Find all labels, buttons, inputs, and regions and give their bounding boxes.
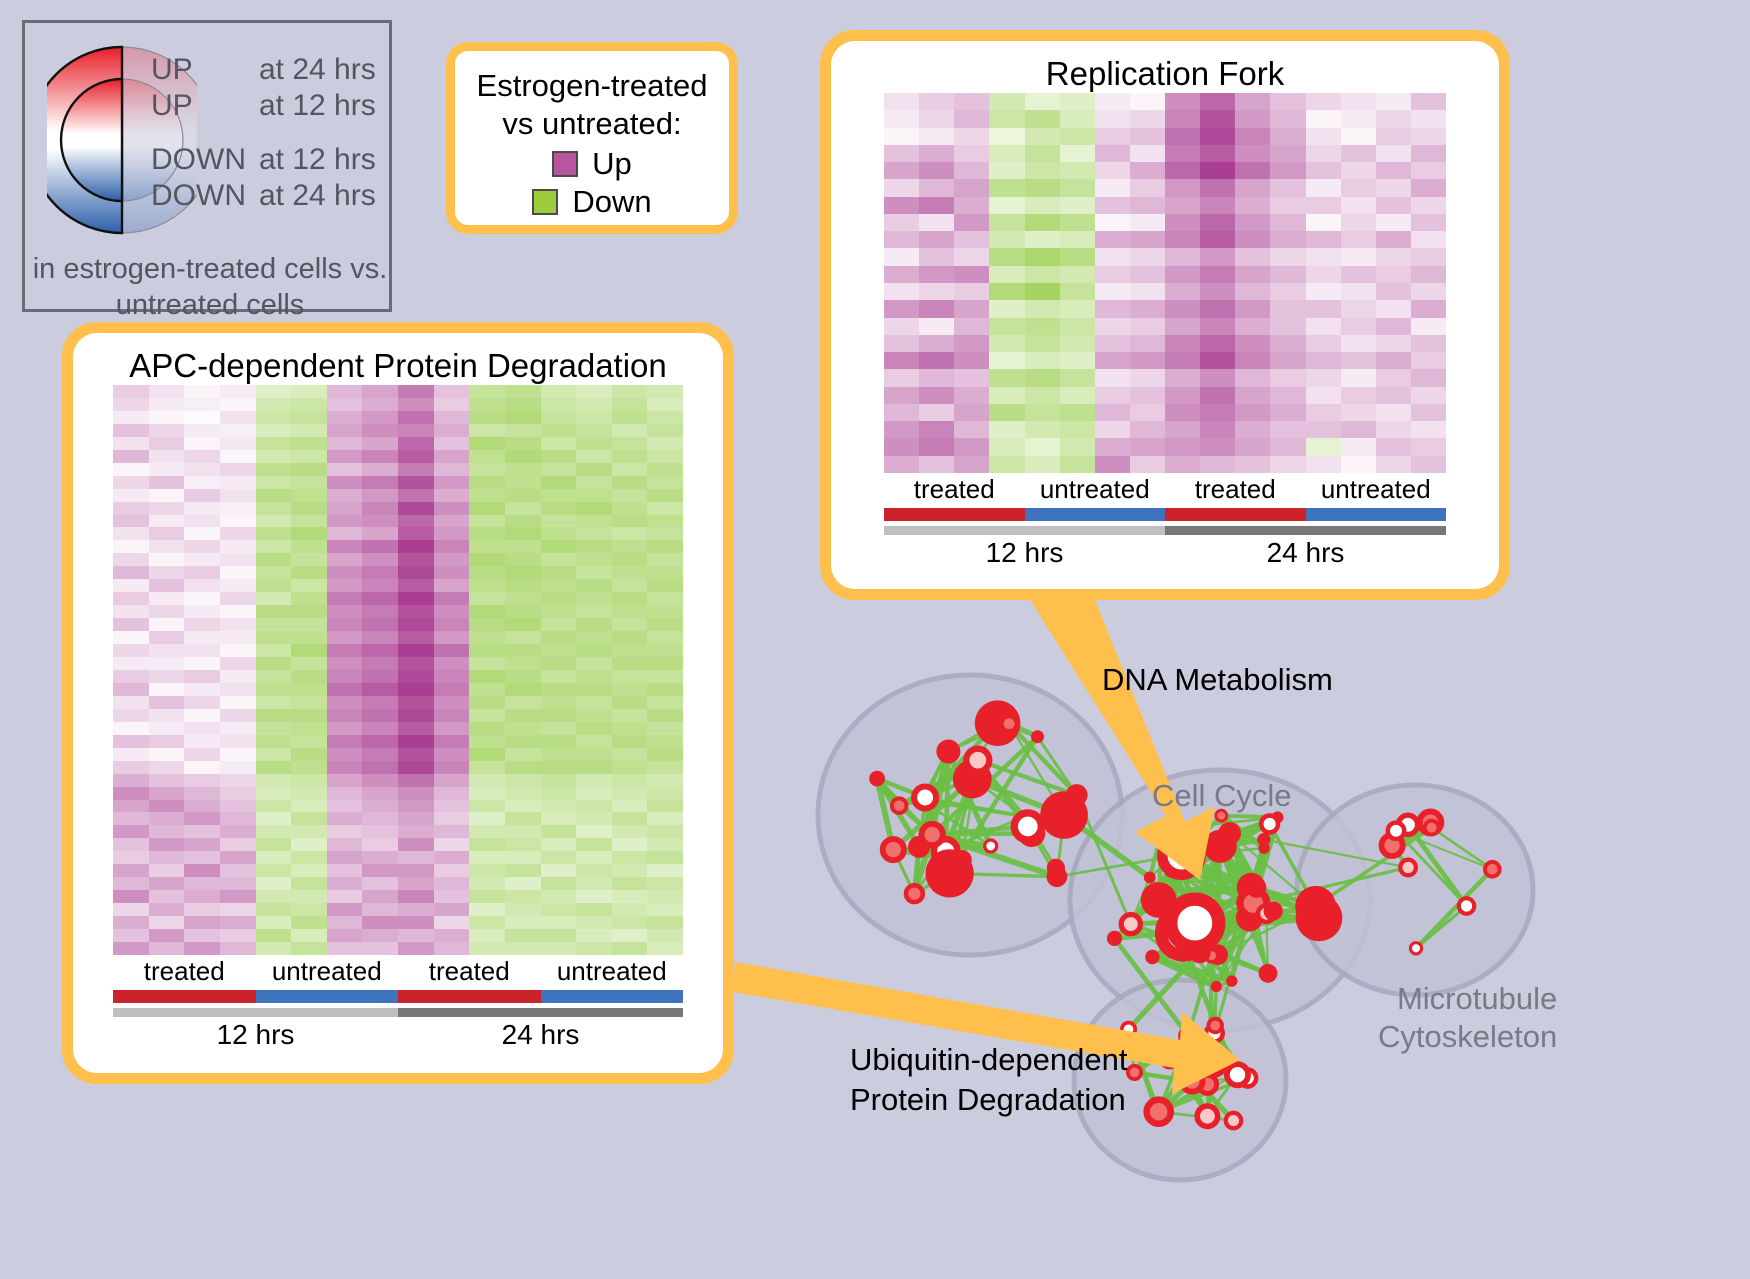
- heatmap-cell: [541, 450, 577, 463]
- heatmap-cell: [220, 579, 256, 592]
- heatmap-cell: [1270, 456, 1305, 473]
- heatmap-cell: [149, 800, 185, 813]
- heatmap-cell: [919, 335, 954, 352]
- heatmap-cell: [505, 722, 541, 735]
- heatmap-cell: [291, 670, 327, 683]
- heatmap-cell: [362, 566, 398, 579]
- heatmap-cell: [149, 463, 185, 476]
- heatmap-cell: [256, 644, 292, 657]
- heatmap-cell: [469, 515, 505, 528]
- heatmap-cell: [1341, 248, 1376, 265]
- heatmap-cell: [434, 657, 470, 670]
- heatmap-cell: [362, 903, 398, 916]
- heatmap-cell: [1376, 387, 1411, 404]
- heatmap-cell: [612, 527, 648, 540]
- heatmap-cell: [1130, 421, 1165, 438]
- heatmap-cell: [1165, 197, 1200, 214]
- heatmap-cell: [1306, 248, 1341, 265]
- heatmap-cell: [327, 916, 363, 929]
- heatmap-cell: [576, 515, 612, 528]
- heatmap-cell: [256, 761, 292, 774]
- heatmap-cell: [362, 385, 398, 398]
- network-node: [1388, 823, 1404, 839]
- heatmap-cell: [398, 527, 434, 540]
- heatmap-cell: [989, 231, 1024, 248]
- heatmap-cell: [220, 489, 256, 502]
- heatmap-cell: [434, 592, 470, 605]
- heatmap-cell: [113, 579, 149, 592]
- heatmap-cell: [989, 352, 1024, 369]
- heatmap-cell: [505, 502, 541, 515]
- heatmap-cell: [612, 761, 648, 774]
- heatmap-cell: [541, 463, 577, 476]
- heatmap-cell: [256, 942, 292, 955]
- network-node: [1202, 1053, 1224, 1075]
- heatmap-cell: [1025, 162, 1060, 179]
- heatmap-cell: [1235, 248, 1270, 265]
- heatmap-cell: [291, 644, 327, 657]
- heatmap-cell: [1025, 318, 1060, 335]
- heatmap-cell: [505, 683, 541, 696]
- heatmap-cell: [1200, 283, 1235, 300]
- heatmap-cell: [113, 812, 149, 825]
- heatmap-cell: [1095, 266, 1130, 283]
- heatmap-cell: [647, 683, 683, 696]
- down-swatch-icon: [532, 189, 558, 215]
- heatmap-cell: [220, 398, 256, 411]
- treatment-color-bar: [884, 508, 1446, 521]
- heatmap-cell: [576, 735, 612, 748]
- heatmap-cell: [256, 618, 292, 631]
- heatmap-cell: [398, 476, 434, 489]
- heatmap-cell: [505, 411, 541, 424]
- heatmap-cell: [184, 722, 220, 735]
- heatmap-cell: [113, 411, 149, 424]
- heatmap-cell: [398, 437, 434, 450]
- heatmap-cell: [256, 592, 292, 605]
- heatmap-cell: [327, 748, 363, 761]
- heatmap-cell: [469, 696, 505, 709]
- heatmap-cell: [576, 838, 612, 851]
- heatmap-cell: [1235, 93, 1270, 110]
- heatmap-cell: [291, 592, 327, 605]
- heatmap-cell: [149, 424, 185, 437]
- heatmap-cell: [184, 385, 220, 398]
- heatmap-cell: [919, 404, 954, 421]
- heatmap-cell: [1130, 387, 1165, 404]
- heatmap-cell: [1270, 300, 1305, 317]
- heatmap-cell: [541, 618, 577, 631]
- heatmap-cell: [1376, 369, 1411, 386]
- heatmap-cell: [505, 476, 541, 489]
- heatmap-cell: [362, 800, 398, 813]
- network-node: [883, 839, 904, 860]
- heatmap-cell: [113, 450, 149, 463]
- heatmap-cell: [1270, 404, 1305, 421]
- network-node: [1144, 872, 1156, 884]
- heatmap-cell: [149, 929, 185, 942]
- heatmap-cell: [1411, 352, 1446, 369]
- heatmap-cell: [576, 812, 612, 825]
- network-node: [922, 824, 943, 845]
- heatmap-cell: [184, 670, 220, 683]
- heatmap-cell: [184, 787, 220, 800]
- heatmap-cell: [1165, 231, 1200, 248]
- heatmap-cell: [291, 838, 327, 851]
- heatmap-cell: [1060, 369, 1095, 386]
- heatmap-cell: [291, 579, 327, 592]
- heatmap-cell: [612, 890, 648, 903]
- heatmap-cell: [469, 903, 505, 916]
- heatmap-cell: [184, 903, 220, 916]
- heatmap-cell: [398, 566, 434, 579]
- heatmap-cell: [362, 540, 398, 553]
- heatmap-cell: [612, 709, 648, 722]
- heatmap-cell: [113, 527, 149, 540]
- network-node: [1257, 833, 1270, 846]
- heatmap-cell: [469, 800, 505, 813]
- heatmap-cell: [919, 369, 954, 386]
- heatmap-cell: [989, 128, 1024, 145]
- heatmap-cell: [220, 942, 256, 955]
- heatmap-cell: [576, 761, 612, 774]
- heatmap-cell: [1025, 266, 1060, 283]
- network-node: [1047, 866, 1068, 887]
- heatmap-cell: [469, 735, 505, 748]
- heatmap-cell: [1200, 335, 1235, 352]
- heatmap-cell: [362, 450, 398, 463]
- heatmap-cell: [1165, 110, 1200, 127]
- network-node: [1296, 895, 1343, 942]
- panel-title: Replication Fork: [831, 41, 1499, 93]
- heatmap-cell: [220, 540, 256, 553]
- heatmap-cell: [327, 385, 363, 398]
- heatmap-cell: [184, 489, 220, 502]
- heatmap-cell: [362, 437, 398, 450]
- network-node: [1264, 901, 1283, 920]
- timepoint-color-bar: [113, 1008, 683, 1017]
- heatmap-cell: [647, 579, 683, 592]
- heatmap-cell: [505, 774, 541, 787]
- heatmap-cell: [327, 877, 363, 890]
- heatmap-cell: [1025, 438, 1060, 455]
- heatmap-cell: [1341, 214, 1376, 231]
- heatmap-cell: [434, 942, 470, 955]
- cluster-label-dna-metabolism: DNA Metabolism: [1102, 662, 1333, 698]
- heatmap-cell: [1341, 197, 1376, 214]
- heatmap-cell: [989, 266, 1024, 283]
- heatmap-cell: [113, 761, 149, 774]
- key-label-down: Down: [572, 185, 651, 219]
- heatmap-cell: [149, 812, 185, 825]
- heatmap-cell: [291, 890, 327, 903]
- heatmap-cell: [113, 787, 149, 800]
- network-node: [1227, 1064, 1248, 1085]
- heatmap-cell: [1095, 179, 1130, 196]
- heatmap-cell: [576, 424, 612, 437]
- heatmap-cell: [1376, 438, 1411, 455]
- pathway-network-graph: [790, 600, 1750, 1279]
- heatmap-cell: [1341, 179, 1376, 196]
- heatmap-cell: [1411, 93, 1446, 110]
- heatmap-cell: [149, 502, 185, 515]
- heatmap-cell: [1306, 404, 1341, 421]
- heatmap-cell: [220, 851, 256, 864]
- heatmap-cell: [362, 553, 398, 566]
- heatmap-cell: [541, 644, 577, 657]
- heatmap-cell: [327, 644, 363, 657]
- heatmap-cell: [1376, 231, 1411, 248]
- heatmap-cell: [149, 851, 185, 864]
- heatmap-cell: [469, 527, 505, 540]
- heatmap-cell: [1235, 421, 1270, 438]
- network-node: [1226, 975, 1237, 986]
- heatmap-cell: [184, 774, 220, 787]
- heatmap-cell: [1025, 179, 1060, 196]
- heatmap-cell: [469, 761, 505, 774]
- heatmap-cell: [469, 463, 505, 476]
- key-entry-down: Down: [469, 185, 715, 219]
- heatmap-cell: [576, 411, 612, 424]
- heatmap-replication-fork: [884, 93, 1446, 473]
- heatmap-cell: [256, 437, 292, 450]
- heatmap-cell: [1306, 162, 1341, 179]
- heatmap-cell: [647, 864, 683, 877]
- heatmap-cell: [327, 489, 363, 502]
- heatmap-cell: [612, 838, 648, 851]
- heatmap-cell: [256, 424, 292, 437]
- heatmap-cell: [541, 722, 577, 735]
- heatmap-cell: [576, 579, 612, 592]
- heatmap-cell: [505, 540, 541, 553]
- heatmap-cell: [469, 657, 505, 670]
- heatmap-cell: [1060, 110, 1095, 127]
- heatmap-cell: [1270, 352, 1305, 369]
- heatmap-cell: [362, 748, 398, 761]
- heatmap-cell: [113, 618, 149, 631]
- heatmap-cell: [1376, 335, 1411, 352]
- heatmap-cell: [1095, 438, 1130, 455]
- heatmap-cell: [398, 890, 434, 903]
- heatmap-cell: [1411, 231, 1446, 248]
- heatmap-cell: [1165, 145, 1200, 162]
- heatmap-cell: [149, 942, 185, 955]
- heatmap-cell: [256, 812, 292, 825]
- heatmap-cell: [184, 916, 220, 929]
- heatmap-cell: [398, 812, 434, 825]
- heatmap-cell: [362, 916, 398, 929]
- heatmap-cell: [398, 722, 434, 735]
- heatmap-cell: [113, 553, 149, 566]
- heatmap-cell: [954, 214, 989, 231]
- heatmap-cell: [220, 761, 256, 774]
- heatmap-cell: [612, 502, 648, 515]
- heatmap-cell: [469, 864, 505, 877]
- heatmap-cell: [884, 93, 919, 110]
- heatmap-cell: [576, 890, 612, 903]
- heatmap-cell: [1095, 231, 1130, 248]
- heatmap-cell: [256, 631, 292, 644]
- heatmap-cell: [327, 787, 363, 800]
- treatment-segment: [884, 508, 1025, 521]
- heatmap-cell: [1411, 369, 1446, 386]
- heatmap-cell: [612, 566, 648, 579]
- heatmap-cell: [647, 631, 683, 644]
- heatmap-cell: [647, 877, 683, 890]
- heatmap-cell: [184, 851, 220, 864]
- heatmap-cell: [505, 385, 541, 398]
- heatmap-cell: [291, 657, 327, 670]
- network-node: [1259, 964, 1278, 983]
- heatmap-cell: [256, 540, 292, 553]
- heatmap-cell: [220, 812, 256, 825]
- heatmap-cell: [541, 566, 577, 579]
- heatmap-cell: [1235, 110, 1270, 127]
- legend-caption: in estrogen-treated cells vs. untreated …: [25, 251, 395, 323]
- heatmap-cell: [647, 385, 683, 398]
- heatmap-cell: [1270, 162, 1305, 179]
- heatmap-cell: [505, 631, 541, 644]
- heatmap-cell: [149, 437, 185, 450]
- heatmap-cell: [647, 709, 683, 722]
- heatmap-cell: [1130, 404, 1165, 421]
- network-node: [1162, 837, 1200, 875]
- heatmap-cell: [1270, 387, 1305, 404]
- heatmap-cell: [113, 748, 149, 761]
- heatmap-cell: [612, 800, 648, 813]
- heatmap-cell: [327, 502, 363, 515]
- heatmap-cell: [541, 696, 577, 709]
- up-swatch-icon: [552, 151, 578, 177]
- heatmap-cell: [989, 421, 1024, 438]
- heatmap-cell: [1270, 93, 1305, 110]
- heatmap-cell: [149, 787, 185, 800]
- heatmap-cell: [1060, 179, 1095, 196]
- heatmap-cell: [1200, 128, 1235, 145]
- heatmap-cell: [434, 916, 470, 929]
- heatmap-cell: [612, 540, 648, 553]
- heatmap-cell: [989, 300, 1024, 317]
- heatmap-cell: [113, 825, 149, 838]
- sample-label: untreated: [256, 955, 399, 987]
- heatmap-cell: [505, 709, 541, 722]
- network-node: [966, 749, 989, 772]
- heatmap-cell: [220, 670, 256, 683]
- heatmap-cell: [149, 761, 185, 774]
- network-node: [906, 885, 923, 902]
- heatmap-cell: [327, 683, 363, 696]
- heatmap-cell: [612, 825, 648, 838]
- heatmap-cell: [220, 631, 256, 644]
- heatmap-cell: [647, 644, 683, 657]
- heatmap-apc-degradation: [113, 385, 683, 955]
- heatmap-cell: [113, 916, 149, 929]
- heatmap-cell: [113, 476, 149, 489]
- heatmap-cell: [541, 903, 577, 916]
- heatmap-cell: [612, 929, 648, 942]
- heatmap-cell: [184, 398, 220, 411]
- heatmap-cell: [1376, 248, 1411, 265]
- heatmap-cell: [919, 162, 954, 179]
- heatmap-cell: [1411, 283, 1446, 300]
- heatmap-cell: [149, 683, 185, 696]
- key-label-up: Up: [592, 147, 632, 181]
- heatmap-cell: [505, 618, 541, 631]
- heatmap-cell: [541, 800, 577, 813]
- network-node: [1162, 1052, 1178, 1068]
- heatmap-cell: [398, 644, 434, 657]
- heatmap-cell: [1411, 438, 1446, 455]
- heatmap-cell: [576, 929, 612, 942]
- updown-legend-rows: UP at 24 hrs UP at 12 hrs DOWN at 12 hrs…: [151, 53, 401, 215]
- heatmap-cell: [919, 421, 954, 438]
- treatment-segment: [541, 990, 684, 1003]
- heatmap-cell: [1235, 456, 1270, 473]
- heatmap-cell: [184, 761, 220, 774]
- heatmap-cell: [1411, 387, 1446, 404]
- heatmap-cell: [1341, 438, 1376, 455]
- heatmap-cell: [113, 515, 149, 528]
- heatmap-cell: [541, 540, 577, 553]
- heatmap-cell: [434, 605, 470, 618]
- heatmap-cell: [184, 942, 220, 955]
- heatmap-cell: [184, 735, 220, 748]
- heatmap-cell: [884, 231, 919, 248]
- heatmap-cell: [505, 748, 541, 761]
- heatmap-cell: [576, 592, 612, 605]
- heatmap-cell: [1270, 197, 1305, 214]
- heatmap-cell: [612, 670, 648, 683]
- heatmap-cell: [1376, 456, 1411, 473]
- heatmap-cell: [612, 877, 648, 890]
- heatmap-cell: [362, 851, 398, 864]
- heatmap-cell: [1270, 214, 1305, 231]
- heatmap-cell: [184, 618, 220, 631]
- heatmap-cell: [576, 851, 612, 864]
- heatmap-cell: [1235, 369, 1270, 386]
- heatmap-cell: [1270, 369, 1305, 386]
- heatmap-cell: [220, 553, 256, 566]
- heatmap-cell: [884, 283, 919, 300]
- heatmap-cell: [469, 787, 505, 800]
- heatmap-cell: [919, 93, 954, 110]
- heatmap-cell: [612, 644, 648, 657]
- heatmap-cell: [1306, 387, 1341, 404]
- heatmap-cell: [919, 214, 954, 231]
- heatmap-cell: [1306, 179, 1341, 196]
- heatmap-cell: [1200, 110, 1235, 127]
- network-node: [1107, 931, 1122, 946]
- heatmap-cell: [220, 864, 256, 877]
- heatmap-cell: [291, 696, 327, 709]
- heatmap-cell: [184, 476, 220, 489]
- heatmap-cell: [149, 838, 185, 851]
- heatmap-cell: [469, 592, 505, 605]
- heatmap-cell: [612, 812, 648, 825]
- heatmap-cell: [1025, 128, 1060, 145]
- heatmap-cell: [505, 851, 541, 864]
- heatmap-cell: [612, 424, 648, 437]
- heatmap-cell: [989, 214, 1024, 231]
- heatmap-cell: [434, 774, 470, 787]
- heatmap-cell: [362, 618, 398, 631]
- heatmap-cell: [1200, 387, 1235, 404]
- heatmap-cell: [612, 463, 648, 476]
- heatmap-cell: [954, 93, 989, 110]
- heatmap-cell: [1411, 300, 1446, 317]
- heatmap-cell: [220, 683, 256, 696]
- heatmap-cell: [541, 929, 577, 942]
